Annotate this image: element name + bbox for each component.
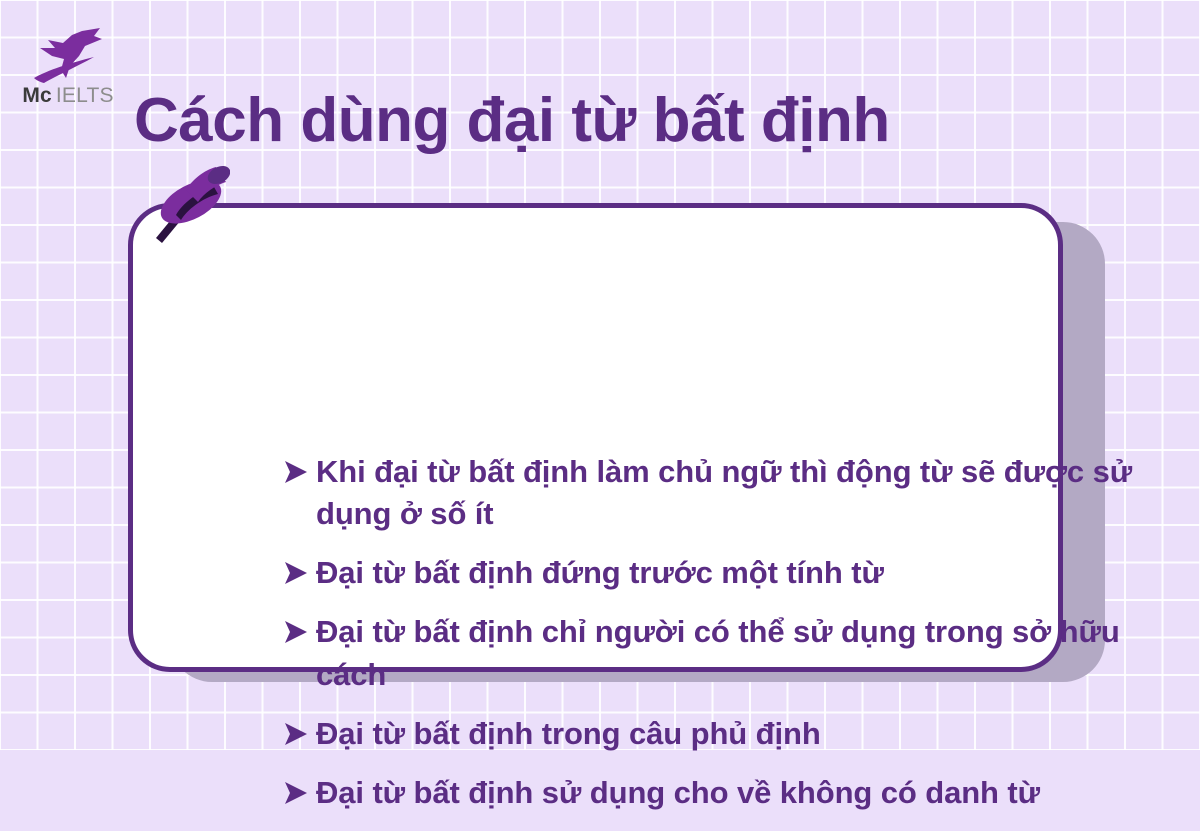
pushpin-icon: [146, 160, 230, 246]
bullet-list: Khi đại từ bất định làm chủ ngữ thì động…: [281, 451, 1181, 831]
list-item: Đại từ bất định trong câu phủ định: [281, 713, 1181, 755]
list-item-label: Đại từ bất định sử dụng cho về không có …: [316, 772, 1181, 814]
slide-canvas: McIELTS Cách dùng đại từ bất định Khi đạ…: [0, 0, 1200, 750]
hummingbird-icon: [22, 26, 114, 84]
brand-name-light: IELTS: [52, 84, 114, 107]
arrowhead-bullet-icon: [281, 617, 311, 647]
list-item: Đại từ bất định chỉ người có thể sử dụng…: [281, 611, 1181, 695]
arrowhead-bullet-icon: [281, 558, 311, 588]
brand-name-bold: Mc: [22, 84, 52, 107]
brand-logo: McIELTS: [14, 26, 122, 118]
list-item: Khi đại từ bất định làm chủ ngữ thì động…: [281, 451, 1181, 535]
brand-wordmark: McIELTS: [14, 84, 122, 108]
arrowhead-bullet-icon: [281, 457, 311, 487]
list-item-label: Đại từ bất định chỉ người có thể sử dụng…: [316, 611, 1181, 695]
arrowhead-bullet-icon: [281, 719, 311, 749]
list-item: Đại từ bất định đứng trước một tính từ: [281, 552, 1181, 594]
list-item: Đại từ bất định sử dụng cho về không có …: [281, 772, 1181, 814]
list-item-label: Khi đại từ bất định làm chủ ngữ thì động…: [316, 451, 1181, 535]
page-title: Cách dùng đại từ bất định: [134, 88, 890, 153]
arrowhead-bullet-icon: [281, 778, 311, 808]
list-item-label: Đại từ bất định trong câu phủ định: [316, 713, 1181, 755]
content-card: Khi đại từ bất định làm chủ ngữ thì động…: [128, 203, 1063, 672]
list-item-label: Đại từ bất định đứng trước một tính từ: [316, 552, 1181, 594]
